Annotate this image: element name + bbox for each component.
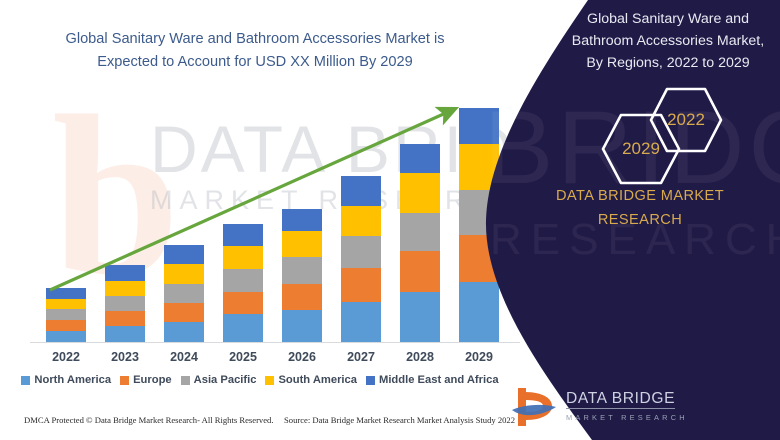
bar-segment-middle-east-and-africa xyxy=(164,245,204,264)
bar-segment-europe xyxy=(341,268,381,301)
x-axis-label-2025: 2025 xyxy=(213,350,273,364)
bar-segment-north-america xyxy=(105,326,145,342)
chart-legend: North AmericaEuropeAsia PacificSouth Ame… xyxy=(0,374,520,386)
legend-item-asia-pacific[interactable]: Asia Pacific xyxy=(181,374,257,386)
bar-segment-middle-east-and-africa xyxy=(105,265,145,280)
bar-segment-europe xyxy=(105,311,145,326)
legend-label: North America xyxy=(34,374,111,386)
x-axis-labels: 20222023202420252026202720282029 xyxy=(0,350,520,368)
legend-swatch-icon xyxy=(181,376,190,385)
x-axis-label-2027: 2027 xyxy=(331,350,391,364)
bar-2025 xyxy=(223,224,263,342)
bars-container xyxy=(0,100,520,342)
bar-segment-europe xyxy=(164,303,204,322)
bar-2022 xyxy=(46,288,86,342)
infographic-root: b DATA BRIDGE MARKET RESEARCH Global San… xyxy=(0,0,780,440)
legend-item-middle-east-and-africa[interactable]: Middle East and Africa xyxy=(366,374,499,386)
brand-panel-content: BRIDGE RESEARCH Global Sanitary Ware and… xyxy=(480,0,780,440)
legend-swatch-icon xyxy=(265,376,274,385)
databridge-b-logo-icon xyxy=(508,386,560,428)
legend-label: Asia Pacific xyxy=(194,374,257,386)
bar-segment-south-america xyxy=(282,231,322,257)
bar-segment-south-america xyxy=(341,206,381,236)
x-axis-label-2023: 2023 xyxy=(95,350,155,364)
bar-segment-asia-pacific xyxy=(164,284,204,303)
bar-segment-europe xyxy=(223,292,263,314)
brand-name: DATA BRIDGE MARKET RESEARCH xyxy=(530,184,750,232)
bar-2027 xyxy=(341,176,381,342)
x-axis-label-2028: 2028 xyxy=(390,350,450,364)
bar-segment-north-america xyxy=(46,331,86,342)
bar-segment-south-america xyxy=(164,264,204,283)
brand-name-line-2: RESEARCH xyxy=(530,208,750,232)
legend-label: South America xyxy=(278,374,357,386)
legend-item-south-america[interactable]: South America xyxy=(265,374,357,386)
bar-segment-south-america xyxy=(223,246,263,269)
bar-segment-europe xyxy=(46,320,86,331)
bar-segment-north-america xyxy=(223,314,263,342)
bar-segment-asia-pacific xyxy=(46,309,86,320)
bar-2026 xyxy=(282,209,322,342)
bar-segment-asia-pacific xyxy=(105,296,145,311)
bar-segment-asia-pacific xyxy=(223,269,263,291)
bar-segment-europe xyxy=(282,284,322,310)
bar-segment-asia-pacific xyxy=(282,257,322,283)
x-axis-label-2022: 2022 xyxy=(36,350,96,364)
legend-item-europe[interactable]: Europe xyxy=(120,374,172,386)
legend-swatch-icon xyxy=(366,376,375,385)
bar-segment-north-america xyxy=(400,292,440,342)
bar-segment-middle-east-and-africa xyxy=(341,176,381,206)
company-logo-text: DATA BRIDGE MARKET RESEARCH xyxy=(566,390,688,424)
bar-2023 xyxy=(105,265,145,342)
x-axis-label-2026: 2026 xyxy=(272,350,332,364)
hexagon-2029-label: 2029 xyxy=(622,139,660,159)
bar-segment-middle-east-and-africa xyxy=(223,224,263,246)
legend-swatch-icon xyxy=(21,376,30,385)
bar-segment-asia-pacific xyxy=(400,213,440,251)
company-logo-subtitle: MARKET RESEARCH xyxy=(566,411,688,424)
bar-segment-south-america xyxy=(400,173,440,213)
company-logo: DATA BRIDGE MARKET RESEARCH xyxy=(508,386,758,430)
x-axis-baseline xyxy=(30,342,520,343)
bar-segment-north-america xyxy=(164,322,204,342)
bar-segment-north-america xyxy=(282,310,322,342)
company-logo-title: DATA BRIDGE xyxy=(566,390,675,409)
bar-2024 xyxy=(164,245,204,342)
bar-segment-middle-east-and-africa xyxy=(282,209,322,231)
bar-segment-middle-east-and-africa xyxy=(46,288,86,299)
bar-2028 xyxy=(400,144,440,342)
bar-segment-south-america xyxy=(46,299,86,309)
brand-panel-title: Global Sanitary Ware and Bathroom Access… xyxy=(568,8,768,74)
bar-segment-south-america xyxy=(105,281,145,296)
bar-segment-asia-pacific xyxy=(341,236,381,268)
legend-item-north-america[interactable]: North America xyxy=(21,374,111,386)
legend-swatch-icon xyxy=(120,376,129,385)
legend-label: Europe xyxy=(133,374,172,386)
hexagon-2022-label: 2022 xyxy=(667,110,705,130)
brand-panel: BRIDGE RESEARCH Global Sanitary Ware and… xyxy=(480,0,780,440)
x-axis-label-2024: 2024 xyxy=(154,350,214,364)
bar-segment-middle-east-and-africa xyxy=(400,144,440,172)
brand-name-line-1: DATA BRIDGE MARKET xyxy=(530,184,750,208)
footer-copyright: DMCA Protected © Data Bridge Market Rese… xyxy=(24,415,274,425)
chart-panel: b DATA BRIDGE MARKET RESEARCH Global San… xyxy=(0,0,540,440)
page-title: Global Sanitary Ware and Bathroom Access… xyxy=(40,28,470,74)
footer: DMCA Protected © Data Bridge Market Rese… xyxy=(0,415,540,435)
bar-segment-north-america xyxy=(341,302,381,342)
bar-segment-europe xyxy=(400,251,440,291)
